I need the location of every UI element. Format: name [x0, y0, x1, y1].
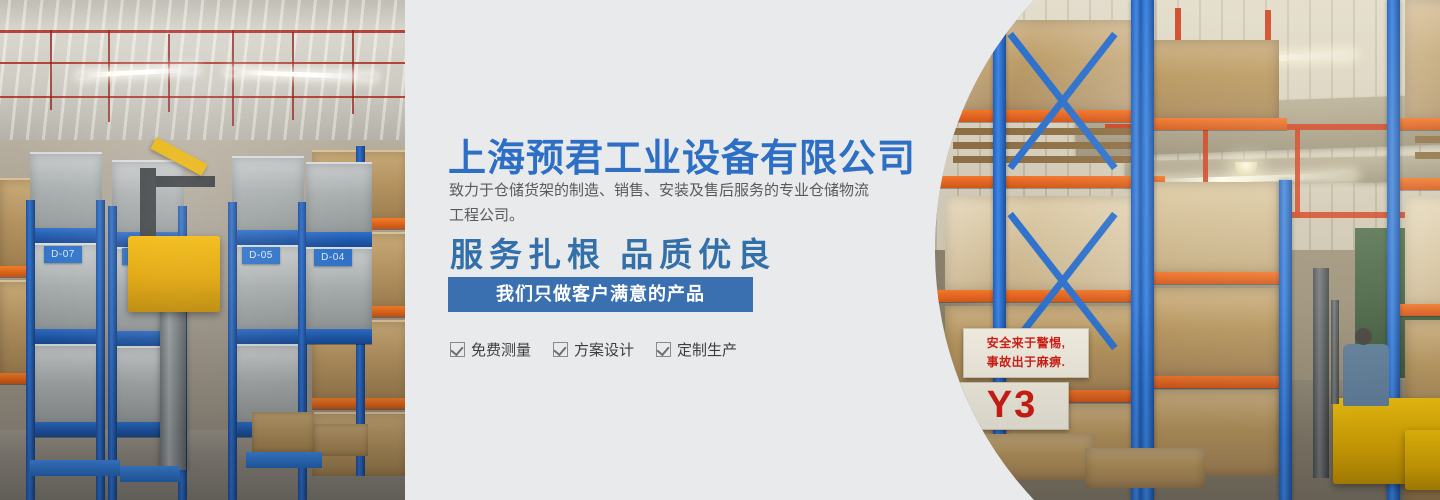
roof-truss [0, 96, 405, 98]
rack-beam [1147, 272, 1287, 284]
feature-item-free-measurement[interactable]: 免费测量 [450, 339, 531, 360]
floor-crate [252, 412, 314, 452]
company-name-heading: 上海预君工业设备有限公司 [448, 127, 916, 182]
rack-upright [96, 200, 105, 500]
sprinkler-pipe [1295, 128, 1300, 218]
rack-beam [232, 230, 304, 245]
check-box-icon [553, 342, 568, 357]
feature-list: 免费测量 方案设计 定制生产 [450, 339, 737, 360]
pallet-load [30, 344, 102, 426]
rack-upright [26, 200, 35, 500]
safety-warning-line-1: 安全来于警惕, [970, 334, 1082, 353]
stretch-wrap [1405, 0, 1440, 120]
ceiling-hanger [232, 30, 234, 126]
hero-banner: D-07 D-06 D-05 [0, 0, 1440, 500]
company-description: 致力于仓储货架的制造、销售、安装及售后服务的专业仓储物流工程公司。 [449, 178, 869, 228]
pallet-slat [1415, 152, 1440, 159]
pallet-load [232, 156, 304, 234]
forklift-cab [128, 236, 220, 312]
company-slogan: 服务扎根 品质优良 [450, 228, 776, 276]
left-warehouse-photo: D-07 D-06 D-05 [0, 0, 405, 500]
rack-beam [1395, 178, 1440, 190]
right-warehouse-photo: 安全来于警惕, 事故出于麻痹. Y3 Y3 [930, 0, 1440, 500]
feature-label: 方案设计 [574, 339, 634, 360]
cta-banner[interactable]: 我们只做客户满意的产品 [448, 277, 753, 312]
rack-upright [228, 202, 237, 500]
rack-beam [30, 422, 102, 437]
feature-label: 免费测量 [471, 339, 531, 360]
safety-warning-sign: 安全来于警惕, 事故出于麻痹. [963, 328, 1089, 378]
rack-upright [1141, 0, 1154, 500]
blue-pallet [120, 466, 180, 482]
ceiling-hanger [352, 30, 354, 114]
blue-pallet [30, 460, 120, 476]
rack-location-label: D-05 [242, 247, 280, 264]
stretch-wrap [945, 196, 1145, 292]
roof-truss [0, 62, 405, 64]
rack-beam [306, 232, 372, 247]
rack-beam [1395, 304, 1440, 316]
stretch-wrap [1405, 196, 1440, 306]
blue-pallet [246, 452, 322, 468]
feature-item-custom-production[interactable]: 定制生产 [656, 339, 737, 360]
pallet-slat [953, 142, 1133, 149]
pallet-load [306, 162, 372, 236]
check-box-icon [450, 342, 465, 357]
forklift-driver [1343, 344, 1389, 406]
rack-beam [1395, 118, 1440, 130]
rack-location-label: D-04 [314, 249, 352, 266]
ceiling-hanger [50, 30, 52, 110]
pallet-load [1149, 40, 1279, 120]
feature-label: 定制生产 [677, 339, 737, 360]
pallet-load [1149, 288, 1279, 378]
rack-location-label: D-07 [44, 246, 82, 263]
forklift-boom [155, 176, 215, 187]
hero-text-panel: 上海预君工业设备有限公司 致力于仓储货架的制造、销售、安装及售后服务的专业仓储物… [405, 0, 980, 500]
floor-crate [314, 424, 368, 456]
forklift-counterweight [1405, 430, 1440, 490]
feature-item-scheme-design[interactable]: 方案设计 [553, 339, 634, 360]
rack-beam [30, 329, 102, 344]
check-box-icon [656, 342, 671, 357]
forklift-driver-head [1355, 328, 1372, 345]
rack-beam [1147, 118, 1287, 130]
safety-warning-line-2: 事故出于麻痹. [970, 353, 1082, 372]
floor-pallet-stack [1085, 448, 1205, 488]
rack-beam [232, 329, 304, 344]
floor-pallet-stack [945, 434, 1095, 480]
forklift-overhead-guard [1331, 300, 1339, 404]
circular-photo-mask: 安全来于警惕, 事故出于麻痹. Y3 Y3 [935, 0, 1440, 500]
rack-beam [306, 329, 372, 344]
photo-content: 安全来于警惕, 事故出于麻痹. Y3 Y3 [935, 0, 1440, 500]
rack-upright [108, 206, 117, 500]
rack-beam [30, 228, 102, 243]
roof-truss [0, 30, 405, 33]
rack-upright [1279, 180, 1292, 500]
aisle-marker-sign: Y3 [955, 382, 1069, 430]
pallet-load [30, 152, 102, 232]
rack-beam [1147, 376, 1287, 388]
rack-bay [30, 152, 102, 472]
pallet-load [1149, 182, 1279, 274]
pallet-slat [1415, 136, 1440, 143]
forklift-mast [1313, 268, 1329, 478]
